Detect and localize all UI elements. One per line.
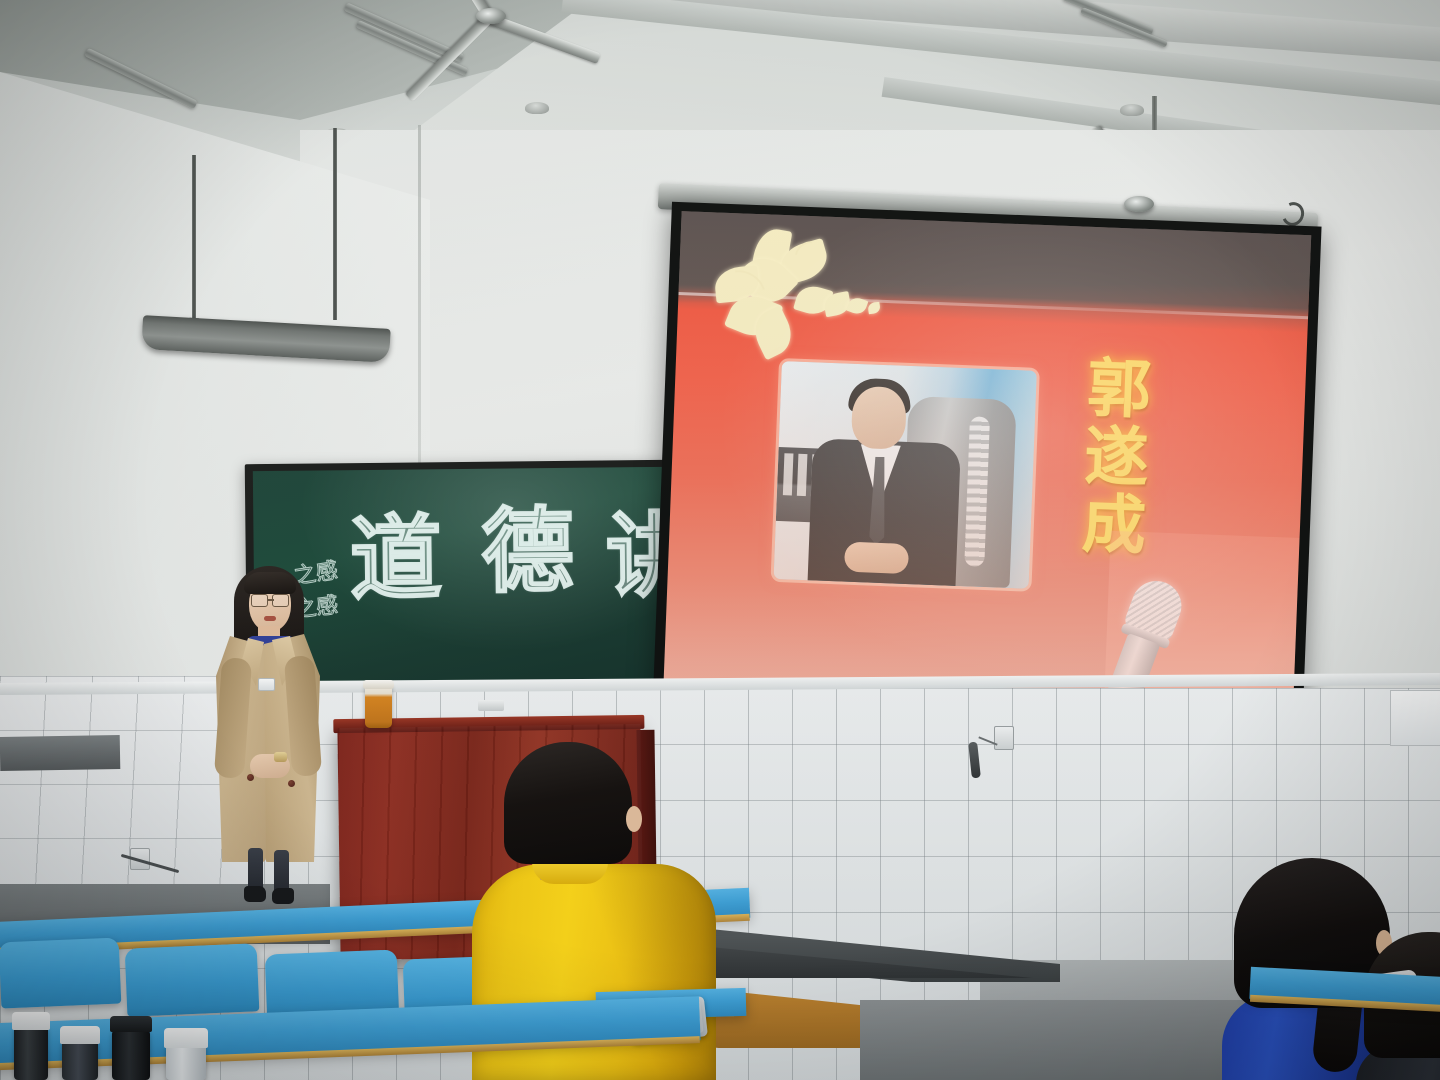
- bottle-cap: [12, 1012, 50, 1030]
- ceiling-mount: [525, 102, 549, 114]
- seat[interactable]: [0, 938, 121, 1009]
- lamp-suspension-rod: [192, 155, 196, 325]
- student-collar: [532, 862, 608, 884]
- student-ear: [626, 806, 642, 832]
- blackboard-char-1: 道: [349, 513, 448, 606]
- classroom-scene: 道 德 讲 之感 之感: [0, 0, 1440, 1080]
- blackboard-char-2: 德: [481, 506, 580, 599]
- ceiling-mount: [1120, 104, 1144, 116]
- wall-notice-sheet: [1390, 690, 1440, 746]
- fan-hub: [1124, 196, 1154, 212]
- eyeglasses-icon: [251, 594, 289, 605]
- slide-glow: [663, 211, 1311, 724]
- projection-screen[interactable]: 郭 遂 成: [652, 202, 1321, 737]
- water-bottle[interactable]: [14, 1026, 48, 1080]
- fan-hub: [476, 8, 506, 24]
- presenter-mouth: [264, 616, 276, 621]
- power-outlet-icon[interactable]: [994, 726, 1014, 750]
- bottle-cap: [164, 1028, 208, 1048]
- wristwatch-icon: [274, 752, 287, 762]
- student-hair: [504, 742, 632, 864]
- presenter-fringe: [244, 572, 296, 594]
- tea-cup-lid: [363, 680, 394, 689]
- water-bottle[interactable]: [62, 1040, 98, 1080]
- thermos-bottle[interactable]: [112, 1030, 150, 1080]
- name-badge: [258, 678, 275, 691]
- water-bottle[interactable]: [166, 1044, 206, 1080]
- stage-front-floor: [860, 1000, 1260, 1080]
- wall-baseboard: [0, 735, 120, 771]
- bottle-cap: [60, 1026, 100, 1044]
- chalk-eraser[interactable]: [478, 700, 504, 711]
- slide: 郭 遂 成: [663, 211, 1311, 724]
- lamp-suspension-rod: [333, 128, 337, 320]
- coat-button: [288, 780, 295, 787]
- presenter-shoe: [272, 888, 294, 904]
- coat-button: [247, 774, 254, 781]
- teacher-presenter: [196, 562, 334, 912]
- tea-cup[interactable]: [365, 684, 392, 728]
- seat[interactable]: [125, 943, 260, 1016]
- bottle-cap: [110, 1016, 152, 1032]
- presenter-shoe: [244, 886, 266, 902]
